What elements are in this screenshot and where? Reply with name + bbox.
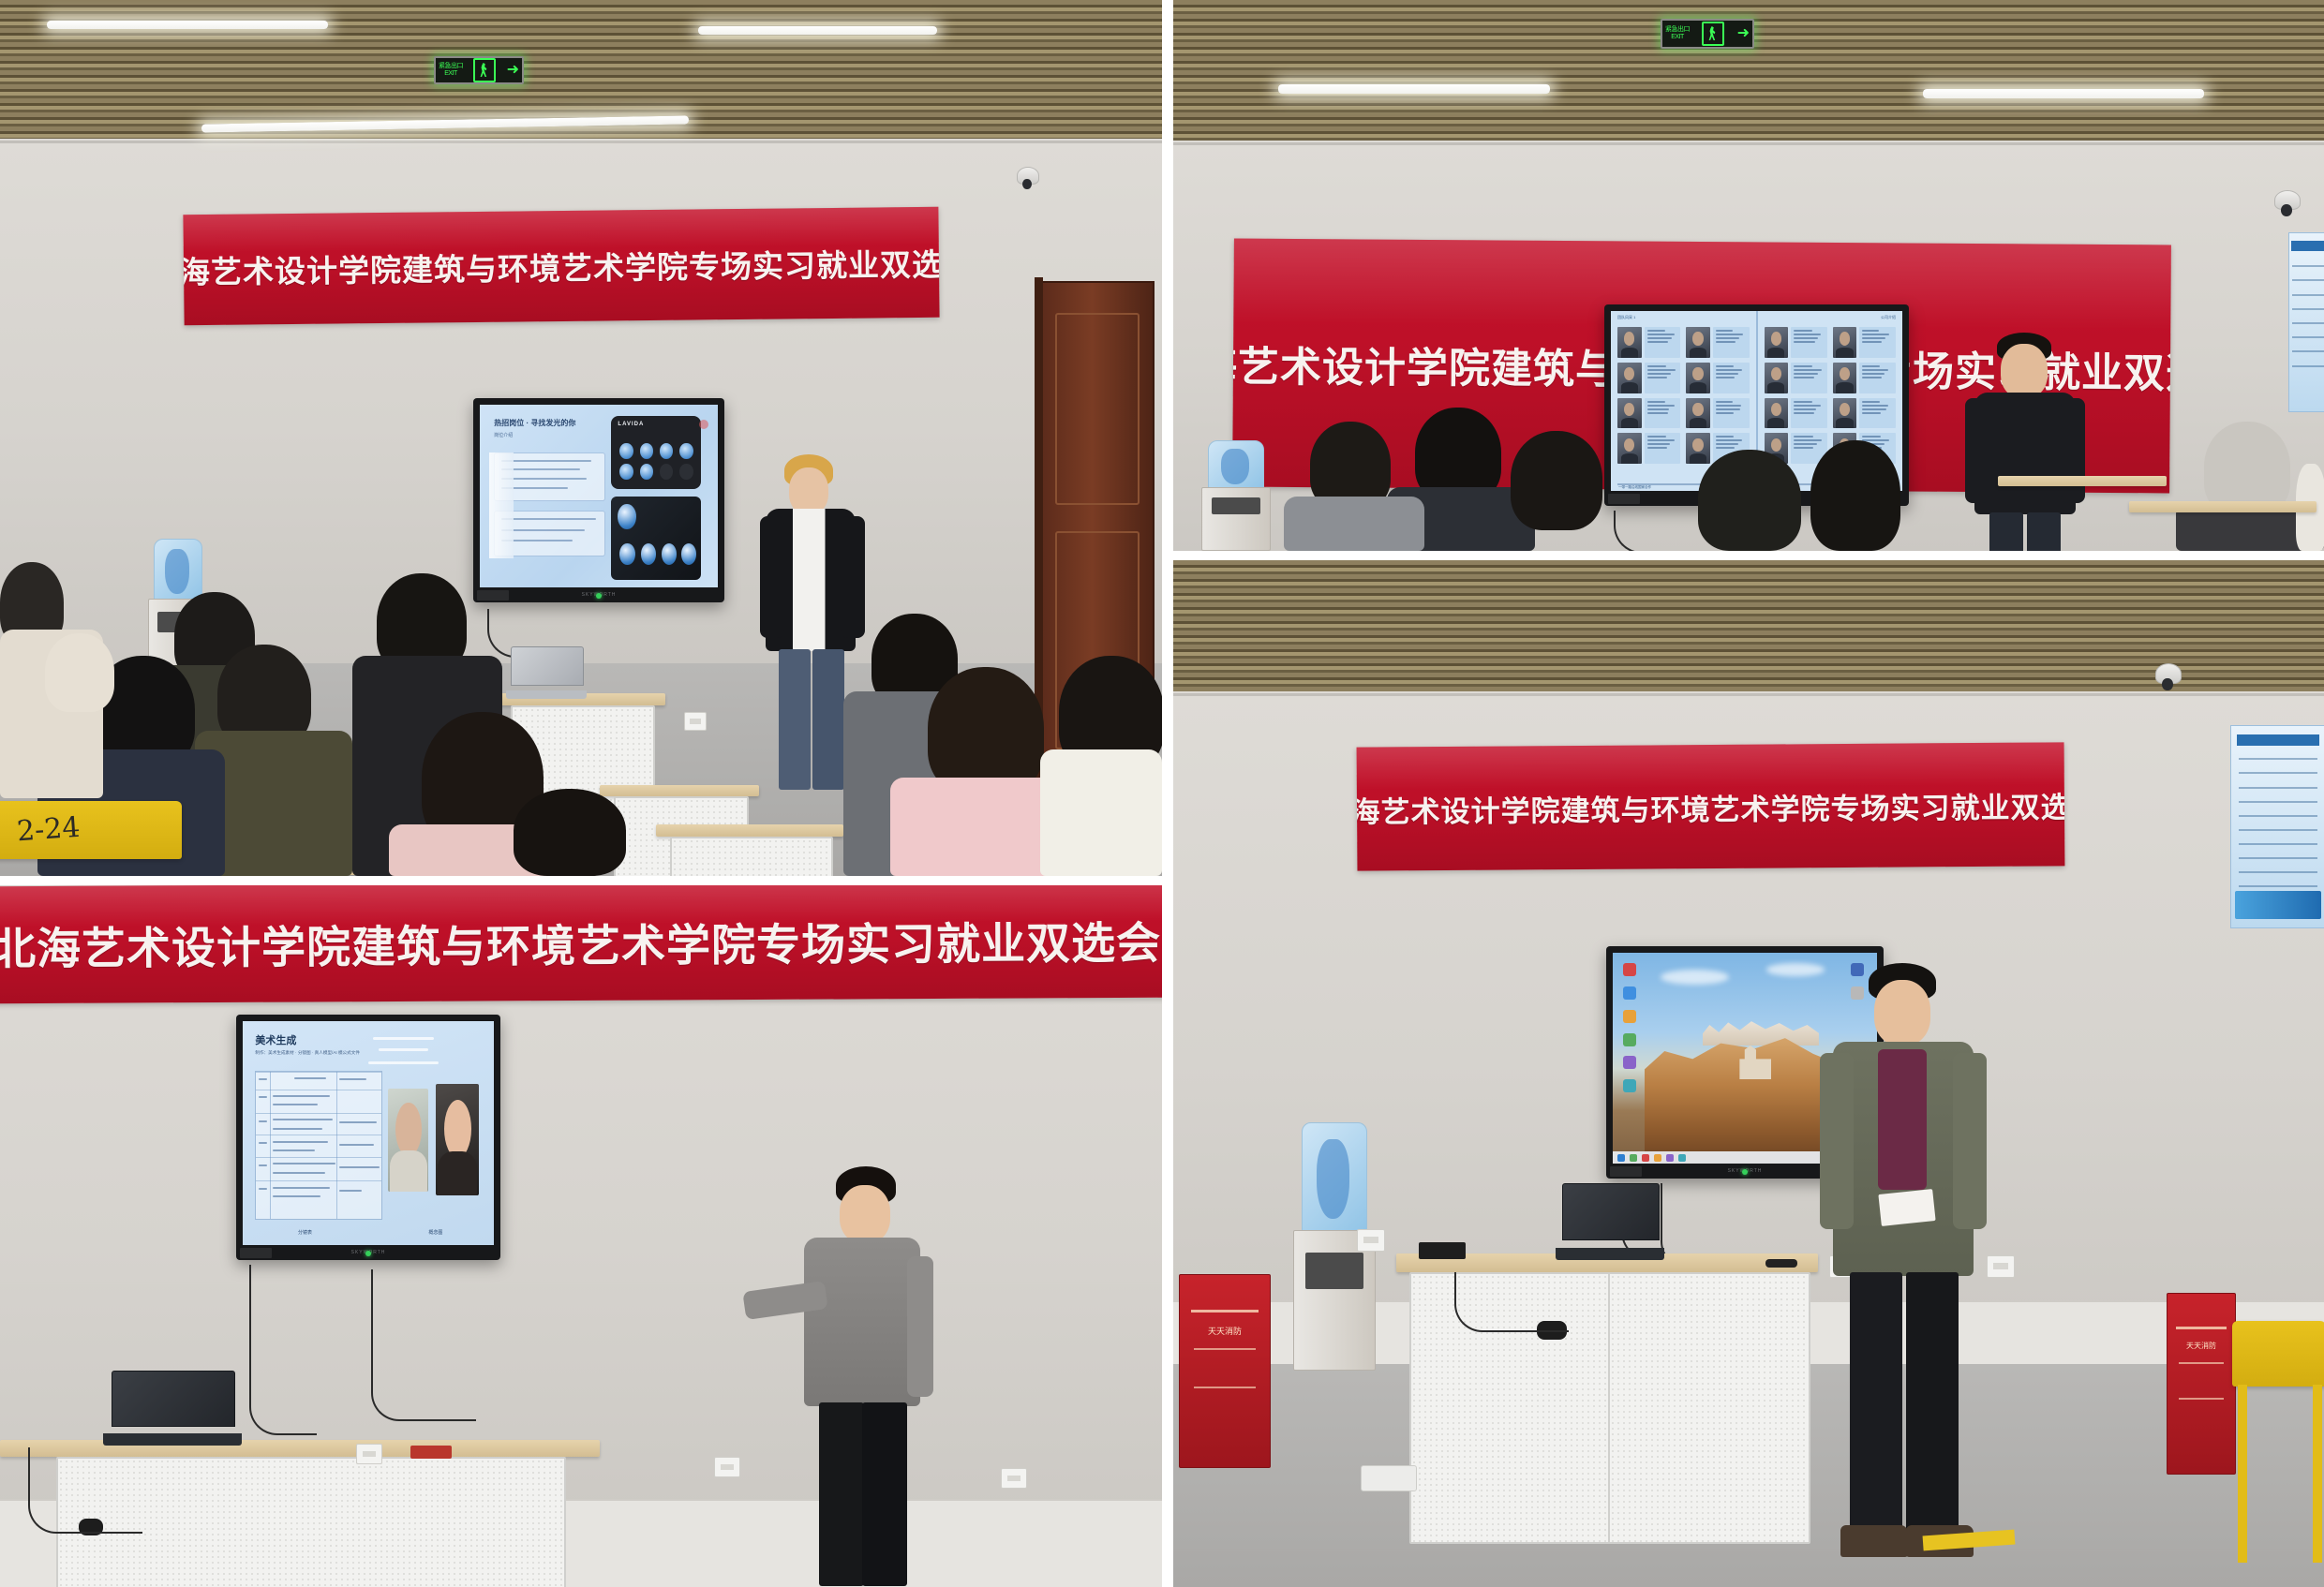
collage-gutter-horizontal bbox=[0, 876, 1162, 885]
panel-logo: LAVIDA bbox=[618, 422, 644, 427]
wall-mounted-tv[interactable]: 美术生成 制作：美术生成素材 · 分镜图 · 真人模型/AI 模公式文件 bbox=[236, 1015, 500, 1260]
firebox-label: 天天消防 bbox=[2168, 1341, 2235, 1351]
taskbar-icon[interactable] bbox=[1630, 1154, 1637, 1162]
tv-power-led bbox=[365, 1251, 371, 1256]
wall-band bbox=[1173, 142, 2324, 145]
arrow-right-icon: ➜ bbox=[1737, 26, 1750, 41]
student-desk-top bbox=[600, 785, 759, 796]
town-silhouette bbox=[1703, 1016, 1819, 1046]
person-card bbox=[1833, 327, 1896, 358]
photo-caption: 概念图 bbox=[428, 1229, 442, 1236]
slide-art: 美术生成 制作：美术生成素材 · 分镜图 · 真人模型/AI 模公式文件 bbox=[243, 1021, 494, 1245]
slide-subtitle: 岗位介绍 bbox=[494, 432, 513, 438]
desktop-icon[interactable] bbox=[1623, 1056, 1636, 1069]
pen-object bbox=[410, 1446, 452, 1459]
power-socket bbox=[684, 712, 707, 731]
fire-equipment-box: 天天消防 bbox=[1179, 1274, 1271, 1468]
collage-gutter-horizontal bbox=[1173, 551, 2324, 560]
student-desk-top bbox=[656, 824, 843, 837]
taskbar-icon[interactable] bbox=[1617, 1154, 1625, 1162]
running-person-icon bbox=[1702, 22, 1724, 46]
person-card bbox=[1686, 327, 1749, 358]
person-card bbox=[1617, 433, 1680, 464]
running-person-icon bbox=[473, 58, 496, 82]
chair-leg bbox=[2313, 1385, 2322, 1563]
page-header-left: 团队风采 1 bbox=[1617, 315, 1635, 320]
ceiling-wood-slats bbox=[1173, 560, 2324, 691]
photo-collage: 紧急出口 EXIT ➜ 北海艺术设计学院建筑与环境艺术学院专场实习就业双选会 bbox=[0, 0, 2324, 1587]
banner-text: 北海艺术设计学院建筑与环境艺术学院专场实习就业双选会 bbox=[1357, 783, 2065, 831]
event-banner: 北海艺术设计学院建筑与环境艺术学院专场实习就业双选会 bbox=[0, 885, 1162, 1003]
black-laptop[interactable] bbox=[1556, 1183, 1664, 1260]
audience-body bbox=[1284, 497, 1424, 551]
wall-mounted-tv[interactable]: 热招岗位 · 寻找发光的你 岗位介绍 LAVIDA bbox=[473, 398, 724, 602]
chair-handwritten-note: 2-24 bbox=[16, 811, 82, 849]
hp-laptop[interactable] bbox=[506, 646, 587, 699]
people-grid bbox=[1617, 327, 1750, 464]
presenter-person bbox=[787, 1166, 937, 1587]
person-card bbox=[1765, 363, 1827, 393]
fire-equipment-box: 天天消防 bbox=[2167, 1293, 2236, 1475]
audience-head bbox=[1698, 450, 1801, 551]
power-cable bbox=[1454, 1272, 1569, 1332]
student-desk-top bbox=[1998, 476, 2167, 486]
slide-subtitle: 制作：美术生成素材 · 分镜图 · 真人模型/AI 模公式文件 bbox=[255, 1050, 360, 1056]
table-caption: 分镜表 bbox=[298, 1229, 312, 1236]
fluorescent-tube bbox=[47, 21, 328, 29]
exit-sign: 紧急出口 EXIT ➜ bbox=[1661, 19, 1754, 49]
person-card bbox=[1833, 398, 1896, 429]
reference-photo bbox=[388, 1089, 428, 1192]
person-card bbox=[1765, 327, 1827, 358]
people-grid bbox=[1765, 327, 1897, 464]
event-banner: 北海艺术设计学院建筑与环境艺术学院专场实习就业双选会 bbox=[183, 207, 939, 325]
dome-camera bbox=[2274, 190, 2299, 220]
slide-jobs: 热招岗位 · 寻找发光的你 岗位介绍 LAVIDA bbox=[480, 405, 718, 587]
person-card bbox=[1833, 363, 1896, 393]
exit-sign: 紧急出口 EXIT ➜ bbox=[434, 56, 524, 84]
presenter-clicker[interactable] bbox=[1765, 1259, 1797, 1268]
page-header-right: 公司介绍 bbox=[1881, 315, 1896, 320]
lectern-body bbox=[1608, 1272, 1810, 1544]
taskbar-icon[interactable] bbox=[1654, 1154, 1661, 1162]
audience-body bbox=[45, 633, 114, 712]
wall-band bbox=[1173, 693, 2324, 696]
water-cooler bbox=[1201, 440, 1269, 551]
tv-screen: 美术生成 制作：美术生成素材 · 分镜图 · 真人模型/AI 模公式文件 bbox=[243, 1021, 494, 1245]
storyboard-table bbox=[255, 1071, 382, 1221]
reference-photo bbox=[436, 1084, 479, 1196]
exit-sign-cn-label: 紧急出口 bbox=[1665, 26, 1690, 34]
presenter-person bbox=[1820, 963, 1987, 1563]
tv-power-led bbox=[596, 593, 602, 599]
fluorescent-tube bbox=[698, 26, 937, 35]
info-poster bbox=[2288, 232, 2324, 412]
taskbar-icon[interactable] bbox=[1642, 1154, 1649, 1162]
power-socket bbox=[1001, 1468, 1027, 1489]
power-socket bbox=[356, 1444, 382, 1464]
presenter-person bbox=[1965, 333, 2087, 551]
handout-paper bbox=[1878, 1189, 1935, 1226]
power-socket bbox=[1987, 1255, 2015, 1278]
fluorescent-tube bbox=[1278, 84, 1550, 94]
person-card bbox=[1765, 398, 1827, 429]
desktop-icon[interactable] bbox=[1623, 1079, 1636, 1092]
app-hero-panel bbox=[611, 497, 702, 581]
chair-leg bbox=[2238, 1385, 2247, 1563]
power-socket bbox=[1357, 1229, 1385, 1252]
wall-band bbox=[0, 141, 1162, 143]
student-desk-top bbox=[2129, 501, 2317, 512]
power-cable bbox=[28, 1447, 142, 1534]
audience-head bbox=[1810, 440, 1900, 551]
person-card bbox=[1686, 363, 1749, 393]
arrow-right-icon: ➜ bbox=[507, 63, 519, 78]
tv-cable bbox=[249, 1265, 317, 1435]
taskbar-icon[interactable] bbox=[1666, 1154, 1674, 1162]
desktop-icon[interactable] bbox=[1623, 986, 1636, 1000]
panel-top-left: 紧急出口 EXIT ➜ 北海艺术设计学院建筑与环境艺术学院专场实习就业双选会 bbox=[0, 0, 1162, 876]
taskbar-icon[interactable] bbox=[1678, 1154, 1686, 1162]
audience-head bbox=[1511, 431, 1602, 530]
info-poster bbox=[2230, 725, 2324, 928]
banner-text: 北海艺术设计学院建筑与环境艺术学院专场实习就业双选会 bbox=[0, 907, 1161, 978]
student-desk-body bbox=[670, 837, 833, 876]
fluorescent-tube bbox=[1923, 89, 2204, 98]
banner-text: 北海艺术设计学院建筑与环境艺术学院专场实习就业双选会 bbox=[183, 239, 939, 292]
tv-screen: 热招岗位 · 寻找发光的你 岗位介绍 LAVIDA bbox=[480, 405, 718, 587]
inner-sweater bbox=[1878, 1049, 1927, 1190]
panel-bottom-left: 北海艺术设计学院建筑与环境艺术学院专场实习就业双选会 美术生成 制作：美术生成素… bbox=[0, 885, 1162, 1587]
exit-sign-cn-label: 紧急出口 bbox=[439, 63, 463, 70]
panel-bottom-right: 北海艺术设计学院建筑与环境艺术学院专场实习就业双选会 bbox=[1173, 560, 2324, 1587]
event-banner: 北海艺术设计学院建筑与环境艺术学院专场实习就业双选会 bbox=[1357, 742, 2065, 870]
footer-text-left: 一带一路沿线国家合作 bbox=[1618, 485, 1651, 490]
yellow-chair[interactable] bbox=[2232, 1321, 2324, 1387]
tv-cable bbox=[371, 1269, 476, 1421]
person-card bbox=[1686, 398, 1749, 429]
app-panel: LAVIDA bbox=[611, 416, 702, 489]
black-laptop[interactable] bbox=[103, 1371, 242, 1446]
desktop-icon[interactable] bbox=[1623, 1010, 1636, 1023]
person-card bbox=[1617, 398, 1680, 429]
firebox-label: 天天消防 bbox=[1180, 1325, 1270, 1337]
audience-head bbox=[928, 667, 1044, 794]
dome-camera bbox=[2155, 663, 2180, 695]
desktop-icon[interactable] bbox=[1623, 1033, 1636, 1046]
person-card bbox=[1617, 363, 1680, 393]
power-socket bbox=[714, 1457, 740, 1477]
slide-title: 热招岗位 · 寻找发光的你 bbox=[494, 418, 575, 428]
desktop-icon[interactable] bbox=[1623, 963, 1636, 976]
exit-sign-en-label: EXIT bbox=[1665, 34, 1690, 41]
slide-title: 美术生成 bbox=[255, 1032, 296, 1047]
tv-cable bbox=[1614, 511, 1700, 551]
dome-camera bbox=[1017, 167, 1037, 193]
audience-body bbox=[1040, 749, 1162, 876]
person-card bbox=[1617, 327, 1680, 358]
exit-sign-en-label: EXIT bbox=[439, 70, 463, 78]
audience-head bbox=[514, 789, 626, 876]
adapter-brick bbox=[1419, 1242, 1466, 1259]
panel-top-right: 紧急出口 EXIT ➜ 北海艺术设计学院建筑与环境艺术学院专场实习就业双选会 bbox=[1173, 0, 2324, 551]
power-strip bbox=[1361, 1465, 1417, 1491]
tv-power-led bbox=[1742, 1169, 1748, 1175]
collage-gutter-vertical bbox=[1162, 0, 1173, 1587]
